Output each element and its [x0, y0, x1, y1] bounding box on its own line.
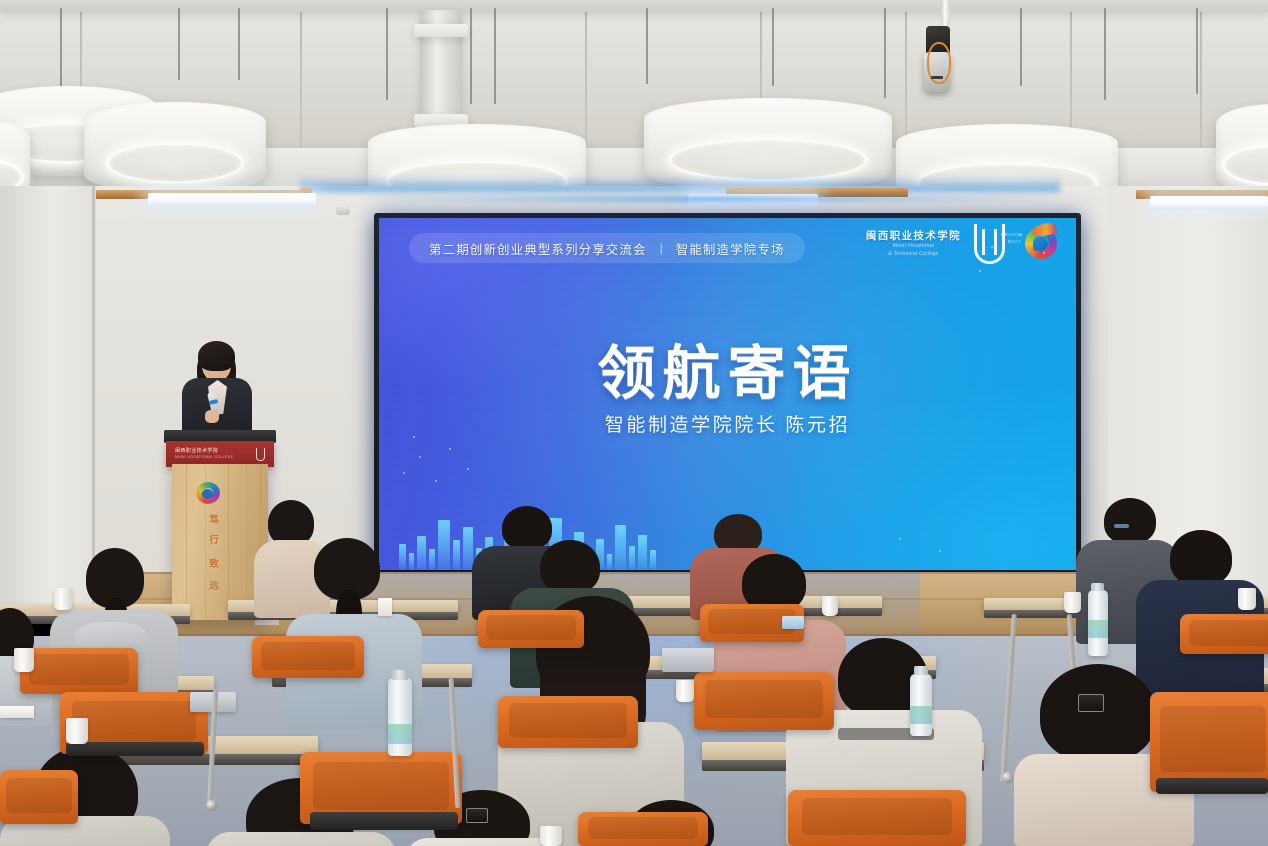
header-separator: |	[660, 241, 663, 255]
chair[interactable]	[1180, 614, 1268, 654]
water-bottle[interactable]	[910, 674, 932, 736]
paper-cup[interactable]	[14, 648, 34, 672]
paper-sheet[interactable]	[0, 706, 34, 718]
chair[interactable]	[578, 812, 708, 846]
hair-clip	[466, 808, 488, 823]
chair[interactable]	[694, 672, 834, 730]
cove-light-glow	[300, 176, 1060, 192]
paper-cup[interactable]	[1064, 592, 1081, 613]
podium-band-name-en: MINXI VOCATIONAL COLLEGE	[175, 455, 233, 460]
water-bottle[interactable]	[388, 678, 412, 756]
slide-logo-group: 闽西职业技术学院 Minxi Vocational & Technical Co…	[866, 222, 1060, 266]
paper-cup[interactable]	[1238, 588, 1256, 610]
college-name-cn: 闽西职业技术学院	[866, 231, 961, 242]
dragon-swirl-icon: DRAGON BOAT	[1018, 224, 1060, 264]
laptop[interactable]	[662, 648, 714, 672]
podium-band-name-cn: 闽西职业技术学院	[175, 448, 233, 456]
led-panel-light	[148, 193, 316, 206]
paper-cup[interactable]	[676, 680, 694, 702]
desk-caster	[206, 800, 217, 811]
left-wall-column	[0, 186, 96, 616]
eyeglasses	[1114, 524, 1129, 528]
college-name-en-line2: & Technical College	[888, 252, 938, 257]
podium-char-1: 笃	[206, 512, 222, 526]
chair[interactable]	[20, 648, 138, 694]
wall-sensor	[336, 206, 350, 215]
paper-sheet[interactable]	[378, 598, 392, 616]
paper-cup[interactable]	[66, 718, 88, 744]
name-card[interactable]	[782, 616, 804, 629]
college-wordmark: 闽西职业技术学院 Minxi Vocational & Technical Co…	[866, 231, 961, 258]
speaker-hand	[205, 410, 219, 423]
lecture-room-photo: 第二期创新创业典型系列分享交流会 | 智能制造学院专场 闽西职业技术学院 Min…	[0, 0, 1268, 846]
desk-caster	[1002, 772, 1013, 783]
podium-char-3: 致	[206, 556, 222, 570]
chair[interactable]	[478, 610, 584, 648]
chair[interactable]	[252, 636, 364, 678]
slide-subtitle: 智能制造学院院长 陈元招	[379, 410, 1076, 437]
event-session-title: 智能制造学院专场	[676, 239, 785, 258]
swirl-text-line2: BOAT	[1008, 239, 1021, 244]
hair-clip	[1078, 694, 1104, 712]
podium-char-2: 行	[206, 532, 222, 546]
chair[interactable]	[788, 790, 966, 846]
chair[interactable]	[0, 770, 78, 824]
podium-u-monogram-icon	[256, 448, 265, 461]
slide-main-title: 领航寄语	[379, 326, 1076, 410]
college-name-en-line1: Minxi Vocational	[893, 244, 935, 249]
event-series-title: 第二期创新创业典型系列分享交流会	[429, 239, 647, 258]
paper-cup[interactable]	[822, 596, 838, 616]
led-panel-light	[1150, 196, 1268, 209]
podium-char-4: 远	[206, 578, 222, 592]
paper-cup[interactable]	[54, 588, 72, 610]
speaker-hair	[198, 341, 235, 371]
slide-header-pill: 第二期创新创业典型系列分享交流会 | 智能制造学院专场	[409, 233, 805, 263]
chair[interactable]	[1150, 692, 1268, 792]
chair[interactable]	[498, 696, 638, 748]
paper-cup[interactable]	[540, 826, 562, 846]
